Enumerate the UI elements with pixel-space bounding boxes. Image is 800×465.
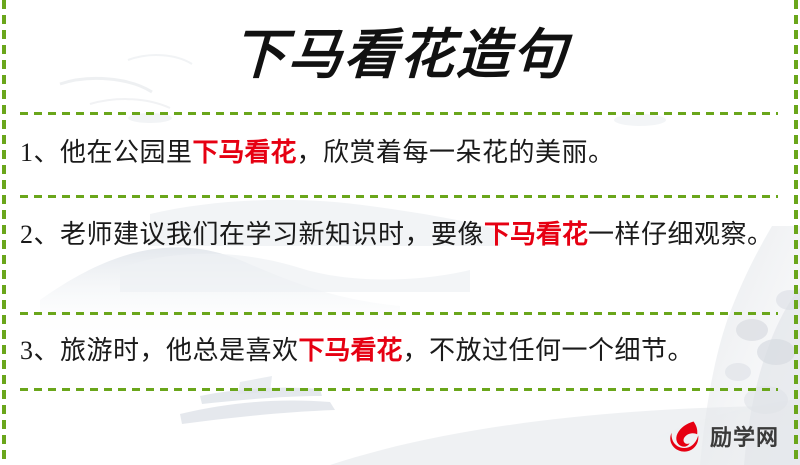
sentence-2-index: 2、 xyxy=(20,220,60,249)
sentence-item-3: 3、旅游时，他总是喜欢下马看花，不放过任何一个细节。 xyxy=(20,328,780,374)
sentence-1-idiom: 下马看花 xyxy=(193,138,297,168)
sentence-1-index: 1、 xyxy=(20,138,60,167)
sentence-worksheet-page: 下马看花造句 1、他在公园里下马看花，欣赏着每一朵花的美丽。 2、老师建议我们在… xyxy=(0,0,800,465)
divider-4 xyxy=(20,388,778,391)
divider-2 xyxy=(20,195,778,198)
sentence-1-before: 他在公园里 xyxy=(60,138,193,167)
sentence-3-after: ，不放过任何一个细节。 xyxy=(403,336,695,365)
sentence-2-before: 老师建议我们在学习新知识时，要像 xyxy=(60,220,484,249)
sentence-3-index: 3、 xyxy=(20,336,60,365)
sentence-item-1: 1、他在公园里下马看花，欣赏着每一朵花的美丽。 xyxy=(20,130,780,176)
sentence-2-idiom: 下马看花 xyxy=(484,220,588,250)
site-logo-text: 励学网 xyxy=(710,420,779,452)
divider-1 xyxy=(20,112,778,115)
divider-3 xyxy=(20,312,778,315)
swirl-flame-icon xyxy=(664,416,704,456)
site-logo[interactable]: 励学网 xyxy=(664,414,784,458)
sentence-2-after: 一样仔细观察。 xyxy=(588,220,774,249)
sentence-item-2: 2、老师建议我们在学习新知识时，要像下马看花一样仔细观察。 xyxy=(20,212,780,258)
sentence-1-after: ，欣赏着每一朵花的美丽。 xyxy=(297,138,615,167)
sentence-3-before: 旅游时，他总是喜欢 xyxy=(60,336,299,365)
sentence-3-idiom: 下马看花 xyxy=(299,336,403,366)
page-title: 下马看花造句 xyxy=(0,18,800,90)
